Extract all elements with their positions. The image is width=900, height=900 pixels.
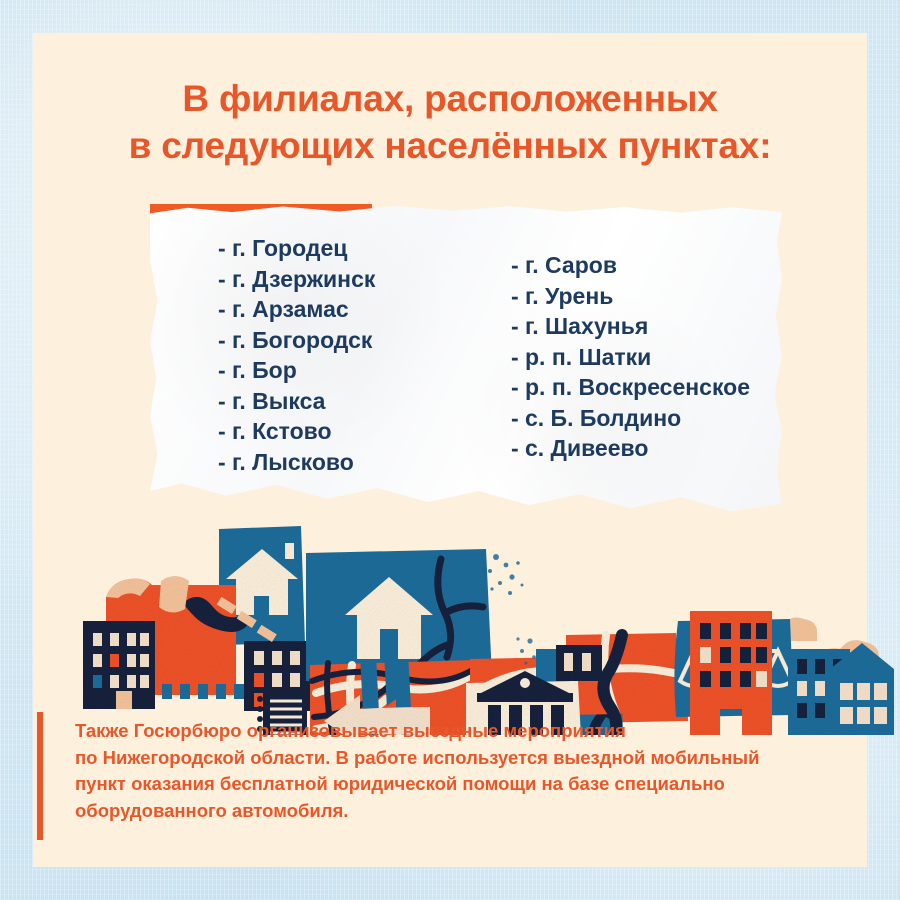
list-item: - г. Богородск	[218, 325, 463, 356]
locations-left-column: - г. Городец - г. Дзержинск - г. Арзамас…	[150, 233, 463, 513]
footer-accent-bar	[37, 712, 43, 840]
list-item: - р. п. Воскресенское	[511, 372, 782, 403]
locations-list: - г. Городец - г. Дзержинск - г. Арзамас…	[150, 233, 782, 513]
list-item: - г. Дзержинск	[218, 264, 463, 295]
list-item: - р. п. Шатки	[511, 342, 782, 373]
list-item: - г. Урень	[511, 281, 782, 312]
city-collage-illustration	[66, 493, 900, 735]
list-item: - г. Шахунья	[511, 311, 782, 342]
list-item: - г. Арзамас	[218, 294, 463, 325]
list-item: - г. Кстово	[218, 416, 463, 447]
list-item: - г. Бор	[218, 355, 463, 386]
list-item: - г. Лысково	[218, 447, 463, 478]
list-item: - г. Выкса	[218, 386, 463, 417]
list-item: - с. Дивеево	[511, 433, 782, 464]
list-item: - г. Саров	[511, 250, 782, 281]
page-title: В филиалах, расположенных в следующих на…	[33, 75, 867, 169]
locations-right-column: - г. Саров - г. Урень - г. Шахунья - р. …	[463, 233, 782, 513]
infographic-root: В филиалах, расположенных в следующих на…	[0, 0, 900, 900]
list-item: - с. Б. Болдино	[511, 403, 782, 434]
list-item: - г. Городец	[218, 233, 463, 264]
footer-note: Также Госюрбюро организовывает выездные …	[75, 718, 835, 824]
cream-card: В филиалах, расположенных в следующих на…	[33, 33, 867, 867]
